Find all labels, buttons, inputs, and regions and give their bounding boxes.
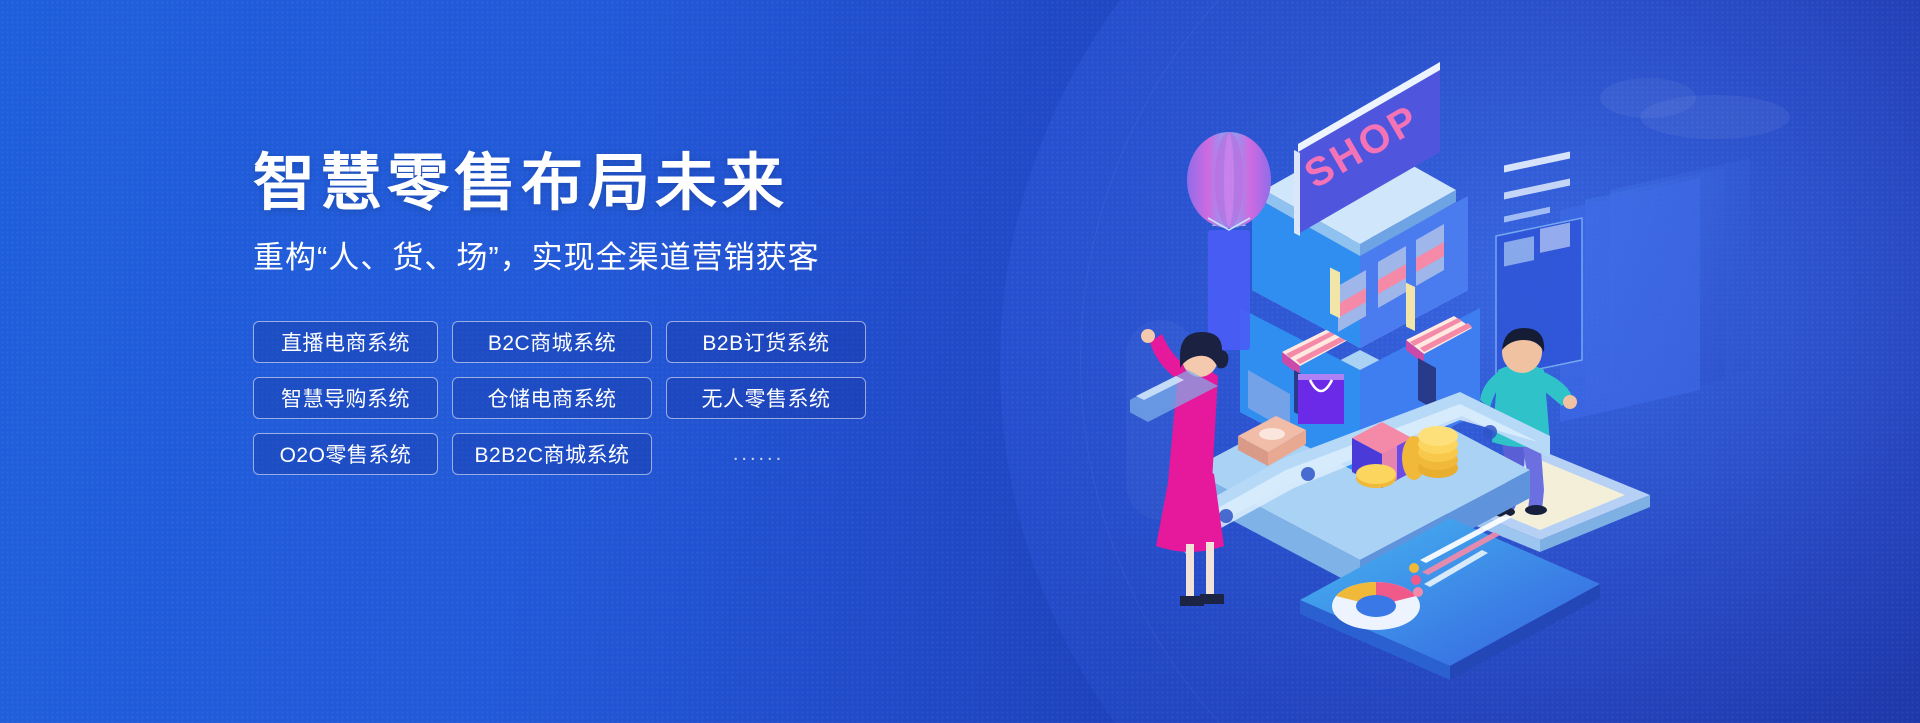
hero-copy: 智慧零售布局未来 重构“人、货、场”，实现全渠道营销获客 直播电商系统 B2C商…	[253, 150, 973, 475]
tag-row: O2O零售系统 B2B2C商城系统 ......	[253, 433, 973, 475]
tag-smart-guide[interactable]: 智慧导购系统	[253, 377, 438, 419]
tag-b2b2c-mall[interactable]: B2B2C商城系统	[452, 433, 652, 475]
tag-warehouse-commerce[interactable]: 仓储电商系统	[452, 377, 652, 419]
tag-more-ellipsis: ......	[666, 433, 851, 475]
tag-live-commerce[interactable]: 直播电商系统	[253, 321, 438, 363]
retail-isometric-illustration: SHOP	[1130, 40, 1830, 680]
tag-b2c-mall[interactable]: B2C商城系统	[452, 321, 652, 363]
donut-chart	[1332, 582, 1420, 630]
hero-banner: 智慧零售布局未来 重构“人、货、场”，实现全渠道营销获客 直播电商系统 B2C商…	[0, 0, 1920, 723]
tag-o2o-retail[interactable]: O2O零售系统	[253, 433, 438, 475]
tag-row: 直播电商系统 B2C商城系统 B2B订货系统	[253, 321, 973, 363]
product-tag-grid: 直播电商系统 B2C商城系统 B2B订货系统 智慧导购系统 仓储电商系统 无人零…	[253, 321, 973, 475]
tag-row: 智慧导购系统 仓储电商系统 无人零售系统	[253, 377, 973, 419]
shopping-bag	[1298, 374, 1344, 424]
tag-unmanned-retail[interactable]: 无人零售系统	[666, 377, 866, 419]
page-title: 智慧零售布局未来	[253, 150, 973, 218]
page-subtitle: 重构“人、货、场”，实现全渠道营销获客	[253, 232, 973, 277]
tag-b2b-order[interactable]: B2B订货系统	[666, 321, 866, 363]
